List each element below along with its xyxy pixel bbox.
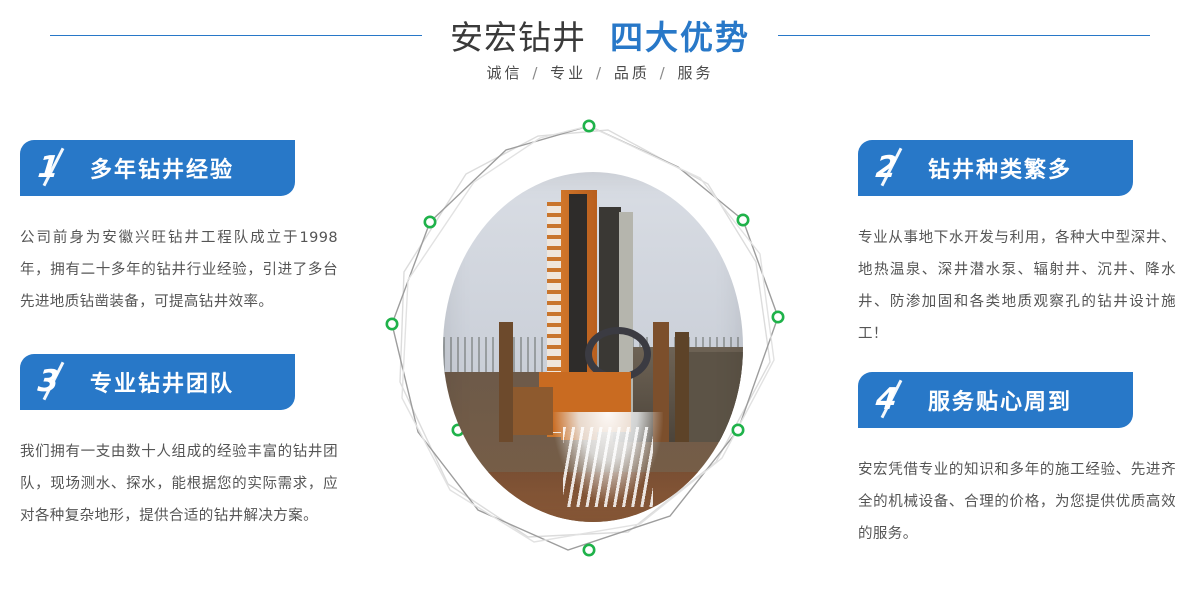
vertex-marker [425,217,435,227]
advantages-column-right: 2 钻井种类繁多 专业从事地下水开发与利用，各种大中型深井、地热温泉、深井潜水泵… [858,140,1188,550]
advantage-body-3: 我们拥有一支由数十人组成的经验丰富的钻井团队，现场测水、探水，能根据您的实际需求… [20,436,338,532]
vertex-marker [584,545,594,555]
title-rule-left [50,35,422,36]
title-rule-right [778,35,1150,36]
drilling-rig-photo [443,172,743,522]
subtitle-item-2: 品质 [614,64,650,82]
advantage-banner-3: 3 专业钻井团队 [20,354,295,410]
page-root: 安宏钻井 四大优势 诚信 / 专业 / 品质 / 服务 1 多年钻井经验 公 [0,0,1200,600]
page-header: 安宏钻井 四大优势 诚信 / 专业 / 品质 / 服务 [0,0,1200,110]
advantage-number-1: 1 [38,148,84,188]
advantage-banner-2: 2 钻井种类繁多 [858,140,1133,196]
vertex-marker [387,319,397,329]
center-illustration [378,112,808,582]
advantage-number-2: 2 [876,148,922,188]
advantage-number-4: 4 [876,380,922,420]
subtitle-separator-0: / [530,64,542,82]
advantage-body-2: 专业从事地下水开发与利用，各种大中型深井、地热温泉、深井潜水泵、辐射井、沉井、降… [858,222,1176,350]
vertex-marker [584,121,594,131]
subtitle-separator-2: / [658,64,670,82]
photo-vignette [443,172,743,522]
advantage-title-3: 专业钻井团队 [90,366,234,398]
advantage-card-1[interactable]: 1 多年钻井经验 公司前身为安徽兴旺钻井工程队成立于1998年，拥有二十多年的钻… [20,140,350,318]
advantage-title-4: 服务贴心周到 [928,384,1072,416]
advantage-card-4[interactable]: 4 服务贴心周到 安宏凭借专业的知识和多年的施工经验、先进齐全的机械设备、合理的… [858,372,1188,550]
subtitle-item-1: 专业 [550,64,586,82]
advantage-title-1: 多年钻井经验 [90,152,234,184]
advantage-number-3: 3 [38,362,84,402]
advantage-card-3[interactable]: 3 专业钻井团队 我们拥有一支由数十人组成的经验丰富的钻井团队，现场测水、探水，… [20,354,350,532]
title-main: 安宏钻井 [450,11,586,59]
advantages-column-left: 1 多年钻井经验 公司前身为安徽兴旺钻井工程队成立于1998年，拥有二十多年的钻… [20,140,350,532]
advantage-body-4: 安宏凭借专业的知识和多年的施工经验、先进齐全的机械设备、合理的价格，为您提供优质… [858,454,1176,550]
subtitle: 诚信 / 专业 / 品质 / 服务 [0,62,1200,83]
subtitle-item-3: 服务 [677,64,713,82]
title-accent: 四大优势 [610,11,750,59]
subtitle-separator-1: / [594,64,606,82]
subtitle-item-0: 诚信 [487,64,523,82]
advantage-banner-1: 1 多年钻井经验 [20,140,295,196]
advantage-banner-4: 4 服务贴心周到 [858,372,1133,428]
photo-content [443,172,743,522]
vertex-marker [773,312,783,322]
advantage-title-2: 钻井种类繁多 [928,152,1072,184]
page-title: 安宏钻井 四大优势 [422,11,778,59]
advantage-body-1: 公司前身为安徽兴旺钻井工程队成立于1998年，拥有二十多年的钻井行业经验，引进了… [20,222,338,318]
advantage-card-2[interactable]: 2 钻井种类繁多 专业从事地下水开发与利用，各种大中型深井、地热温泉、深井潜水泵… [858,140,1188,350]
title-row: 安宏钻井 四大优势 [0,12,1200,58]
